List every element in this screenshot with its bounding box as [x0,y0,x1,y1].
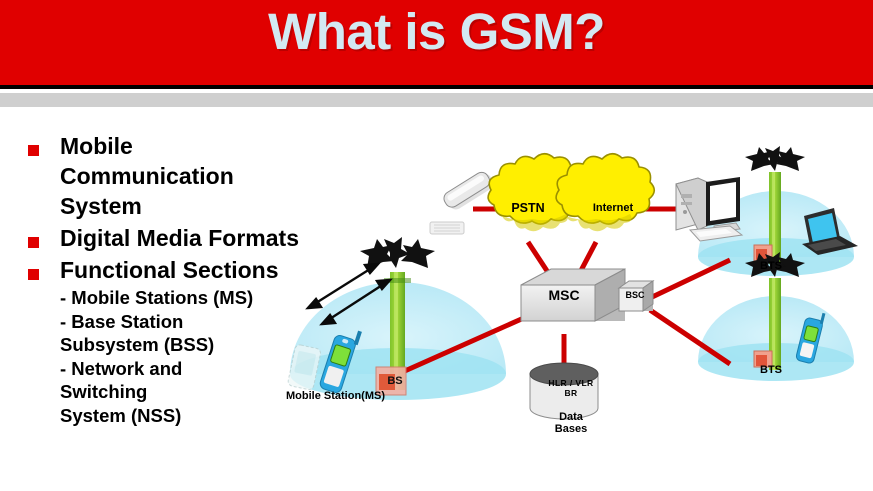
sub-list-item: - Network and Switching System (NSS) [60,357,302,427]
list-item: Functional Sections - Mobile Stations (M… [22,256,302,428]
network-diagram: PSTN Internet MSC BSC HLR / VLR BR Data … [278,112,873,491]
sub-bullet-list: - Mobile Stations (MS) - Base Station Su… [60,286,302,427]
title-banner: What is GSM? [0,0,873,89]
slide: What is GSM? Mobile Communication System… [0,0,873,491]
bullet-list: Mobile Communication System Digital Medi… [22,132,302,429]
bullet-label: Digital Media Formats [60,224,302,254]
square-bullet-icon [28,237,39,248]
desktop-computer-icon [676,177,742,241]
banner-underline-strip [0,93,873,107]
telephone-handset-icon [430,169,496,234]
internet-label: Internet [580,202,646,214]
bts-lower-label: BTS [751,364,791,376]
bullet-label: Mobile Communication System [60,132,302,222]
sub-list-item: - Base Station Subsystem (BSS) [60,310,302,357]
sub-list-item: - Mobile Stations (MS) [60,286,302,309]
bsc-label: BSC [619,290,651,300]
bts-upper-label: BTS [751,260,791,272]
bullet-label: Functional Sections [60,256,302,286]
base-station-label: BS [383,375,407,387]
mobile-station-caption: Mobile Station(MS) [286,390,416,402]
msc-label: MSC [536,288,592,304]
list-item: Mobile Communication System [22,132,302,222]
square-bullet-icon [28,145,39,156]
database-label: HLR / VLR BR [540,379,602,398]
pstn-label: PSTN [500,201,556,215]
internet-cloud-icon [556,154,654,232]
square-bullet-icon [28,269,39,280]
database-caption: Data Bases [536,411,606,436]
page-title: What is GSM? [0,2,873,61]
list-item: Digital Media Formats [22,224,302,254]
